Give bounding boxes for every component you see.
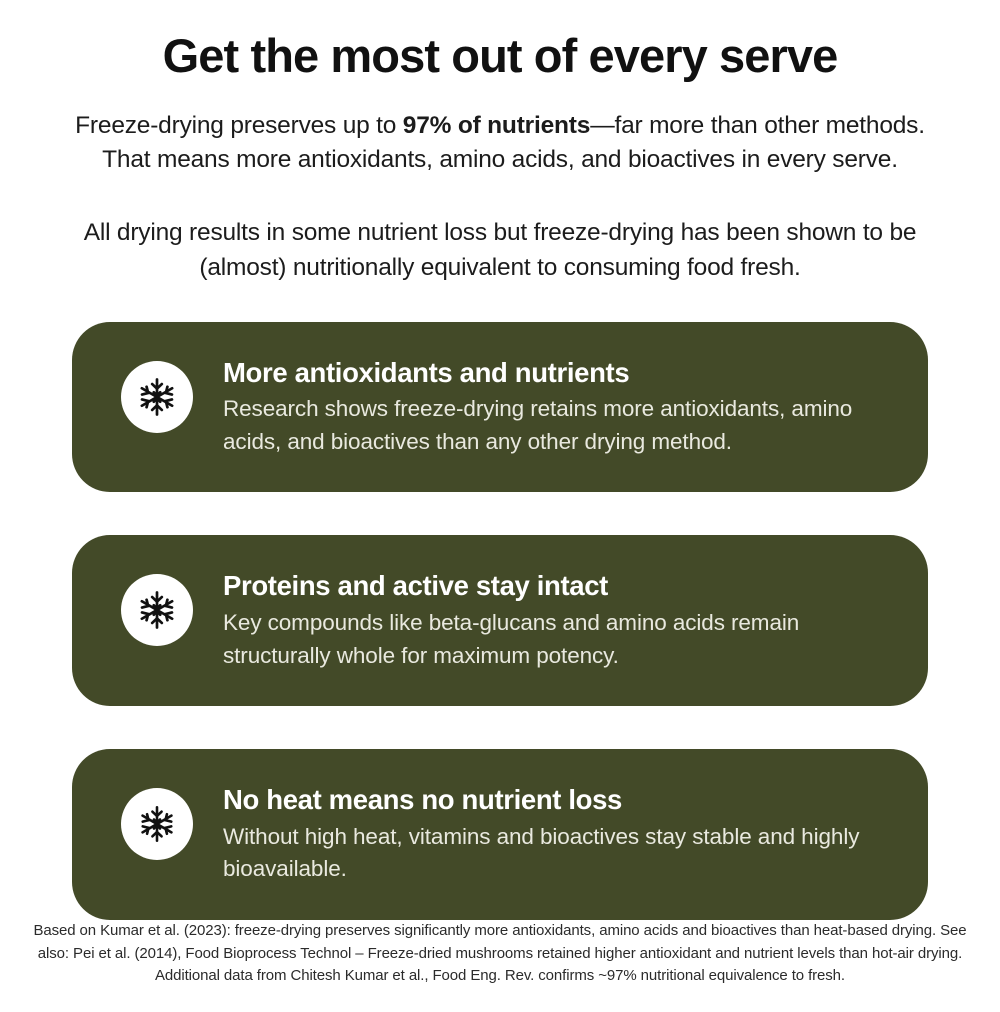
intro-paragraph-1-highlight: 97% of nutrients <box>403 112 590 139</box>
infographic-page: Get the most out of every serve Freeze-d… <box>0 0 1000 1000</box>
benefit-card-list: More antioxidants and nutrients Research… <box>0 322 1000 920</box>
source-footnote: Based on Kumar et al. (2023): freeze-dry… <box>0 920 1000 1012</box>
benefit-card-text: Proteins and active stay intact Key comp… <box>223 569 888 672</box>
snowflake-icon <box>121 361 193 433</box>
benefit-card-title: More antioxidants and nutrients <box>223 357 888 389</box>
intro-paragraph-2: All drying results in some nutrient loss… <box>20 216 980 286</box>
benefit-card-text: No heat means no nutrient loss Without h… <box>223 783 888 886</box>
benefit-card-title: Proteins and active stay intact <box>223 570 888 602</box>
benefit-card-description: Research shows freeze-drying retains mor… <box>223 393 888 458</box>
intro-block: Freeze-drying preserves up to 97% of nut… <box>0 83 1000 286</box>
intro-paragraph-1-prefix: Freeze-drying preserves up to <box>75 112 403 139</box>
benefit-card: Proteins and active stay intact Key comp… <box>72 535 928 706</box>
benefit-card-description: Key compounds like beta-glucans and amin… <box>223 607 888 672</box>
snowflake-icon <box>121 788 193 860</box>
benefit-card-title: No heat means no nutrient loss <box>223 784 888 816</box>
intro-paragraph-1: Freeze-drying preserves up to 97% of nut… <box>20 109 980 179</box>
snowflake-icon <box>121 574 193 646</box>
page-title: Get the most out of every serve <box>0 0 1000 83</box>
benefit-card: No heat means no nutrient loss Without h… <box>72 749 928 920</box>
benefit-card: More antioxidants and nutrients Research… <box>72 322 928 493</box>
benefit-card-description: Without high heat, vitamins and bioactiv… <box>223 821 888 886</box>
benefit-card-text: More antioxidants and nutrients Research… <box>223 356 888 459</box>
